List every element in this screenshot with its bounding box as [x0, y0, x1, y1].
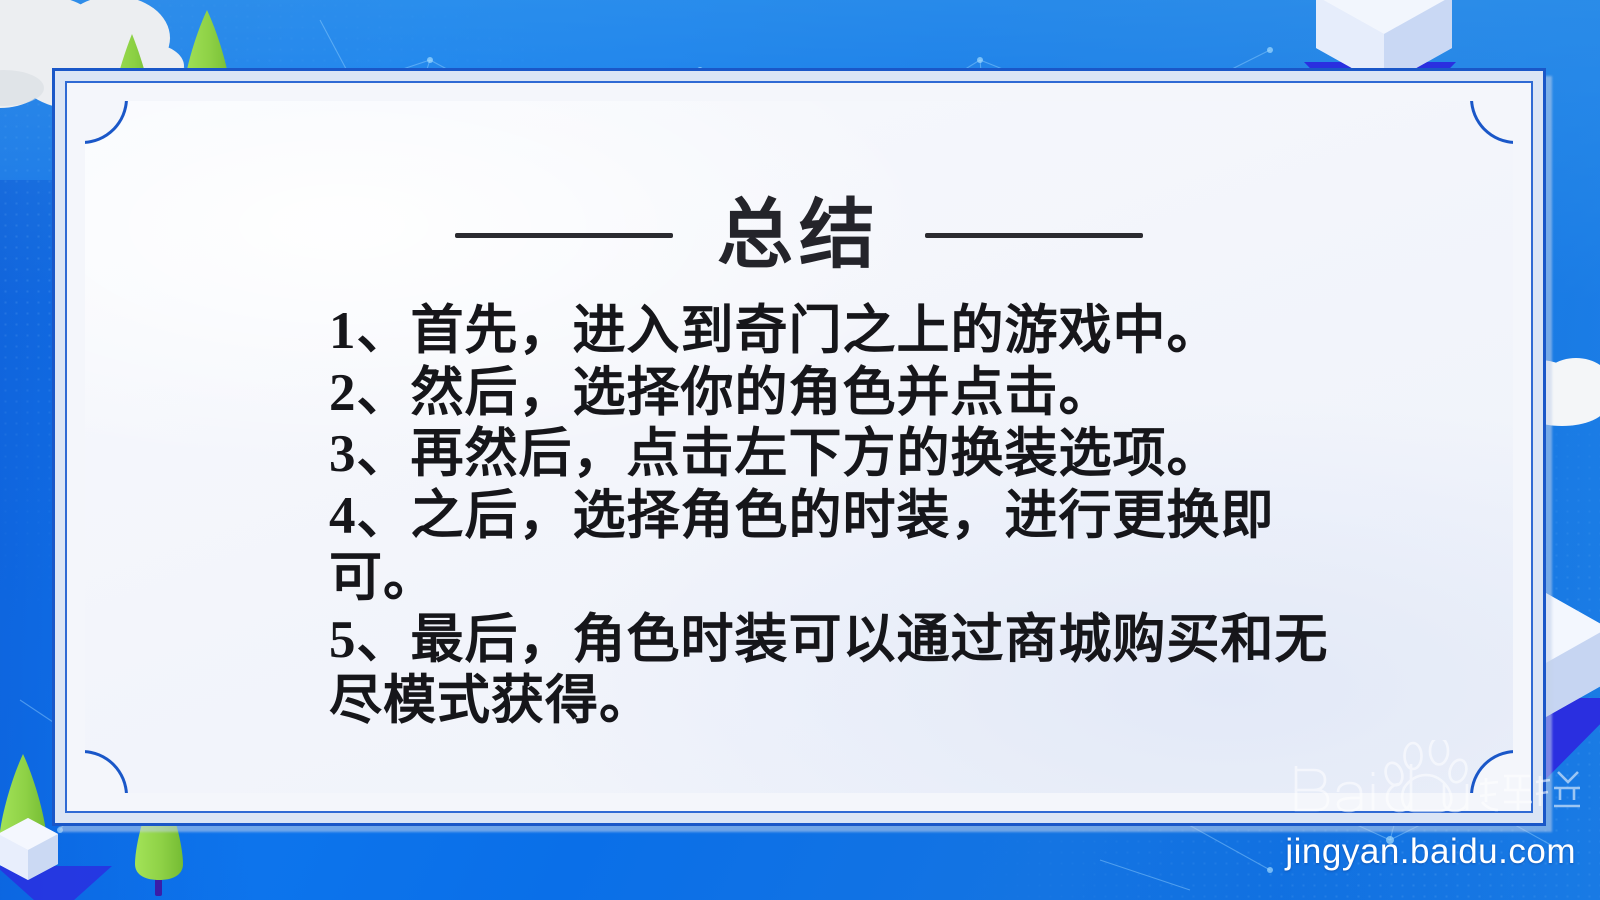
- card-panel: 总结 1、首先，进入到奇门之上的游戏中。 2、然后，选择你的角色并点击。 3、再…: [85, 101, 1513, 793]
- baidu-jingyan-watermark: [1282, 740, 1582, 814]
- list-item: 2、然后，选择你的角色并点击。: [329, 363, 1329, 425]
- title-rule-right-icon: [925, 233, 1143, 238]
- watermark-url: jingyan.baidu.com: [1285, 832, 1576, 872]
- baidu-paw-icon: [1405, 743, 1422, 769]
- corner-notch-bottom-left: [85, 750, 128, 793]
- summary-steps-list: 1、首先，进入到奇门之上的游戏中。 2、然后，选择你的角色并点击。 3、再然后，…: [329, 301, 1329, 733]
- content-card: 总结 1、首先，进入到奇门之上的游戏中。 2、然后，选择你的角色并点击。 3、再…: [52, 68, 1546, 826]
- slide-title-row: 总结: [85, 197, 1513, 273]
- page-title: 总结: [717, 197, 881, 273]
- list-item: 4、之后，选择角色的时装，进行更换即可。: [329, 486, 1329, 609]
- title-rule-left-icon: [455, 233, 673, 238]
- slide-canvas: 总结 1、首先，进入到奇门之上的游戏中。 2、然后，选择你的角色并点击。 3、再…: [0, 0, 1600, 900]
- card-inner-border: 总结 1、首先，进入到奇门之上的游戏中。 2、然后，选择你的角色并点击。 3、再…: [65, 81, 1533, 813]
- corner-notch-top-left: [85, 101, 128, 144]
- corner-notch-top-right: [1470, 101, 1513, 144]
- list-item: 3、再然后，点击左下方的换装选项。: [329, 424, 1329, 486]
- list-item: 1、首先，进入到奇门之上的游戏中。: [329, 301, 1329, 363]
- list-item: 5、最后，角色时装可以通过商城购买和无尽模式获得。: [329, 610, 1329, 733]
